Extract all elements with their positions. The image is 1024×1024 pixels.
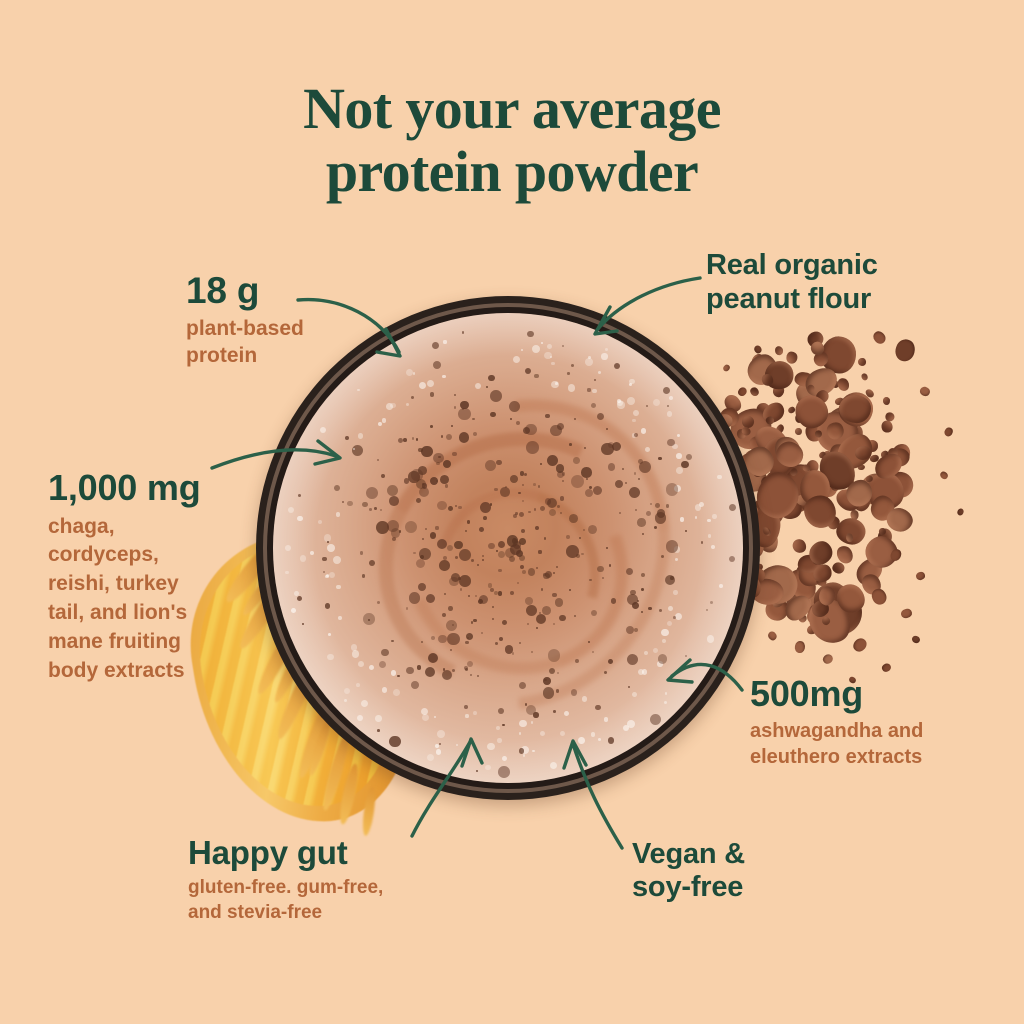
callout-vegan-heading: Vegan & soy-free [632,838,745,904]
callout-500mg-heading: 500mg [750,676,923,713]
callout-peanut-flour-heading: Real organic peanut flour [706,248,878,316]
callout-18g: 18 g plant-based protein [186,272,304,369]
callout-18g-subtext: plant-based protein [186,315,304,370]
callout-happy-gut: Happy gut gluten-free. gum-free, and ste… [188,836,383,926]
callout-happy-gut-subtext: gluten-free. gum-free, and stevia-free [188,875,383,927]
smoothie-surface [273,313,743,783]
callout-1000mg: 1,000 mg chaga, cordyceps, reishi, turke… [48,470,298,685]
callout-1000mg-subtext: chaga, cordyceps, reishi, turkey tail, a… [48,513,298,686]
callout-18g-heading: 18 g [186,272,304,310]
callout-peanut-flour: Real organic peanut flour [706,248,878,316]
page-title: Not your average protein powder [0,78,1024,203]
smoothie-glass [256,296,760,800]
callout-500mg-subtext: ashwagandha and eleuthero extracts [750,718,923,771]
callout-500mg: 500mg ashwagandha and eleuthero extracts [750,676,923,771]
callout-1000mg-heading: 1,000 mg [48,470,298,507]
product-infographic: Not your average protein powder 18 g pla… [0,0,1024,1024]
callout-happy-gut-heading: Happy gut [188,836,383,870]
callout-vegan: Vegan & soy-free [632,838,745,904]
